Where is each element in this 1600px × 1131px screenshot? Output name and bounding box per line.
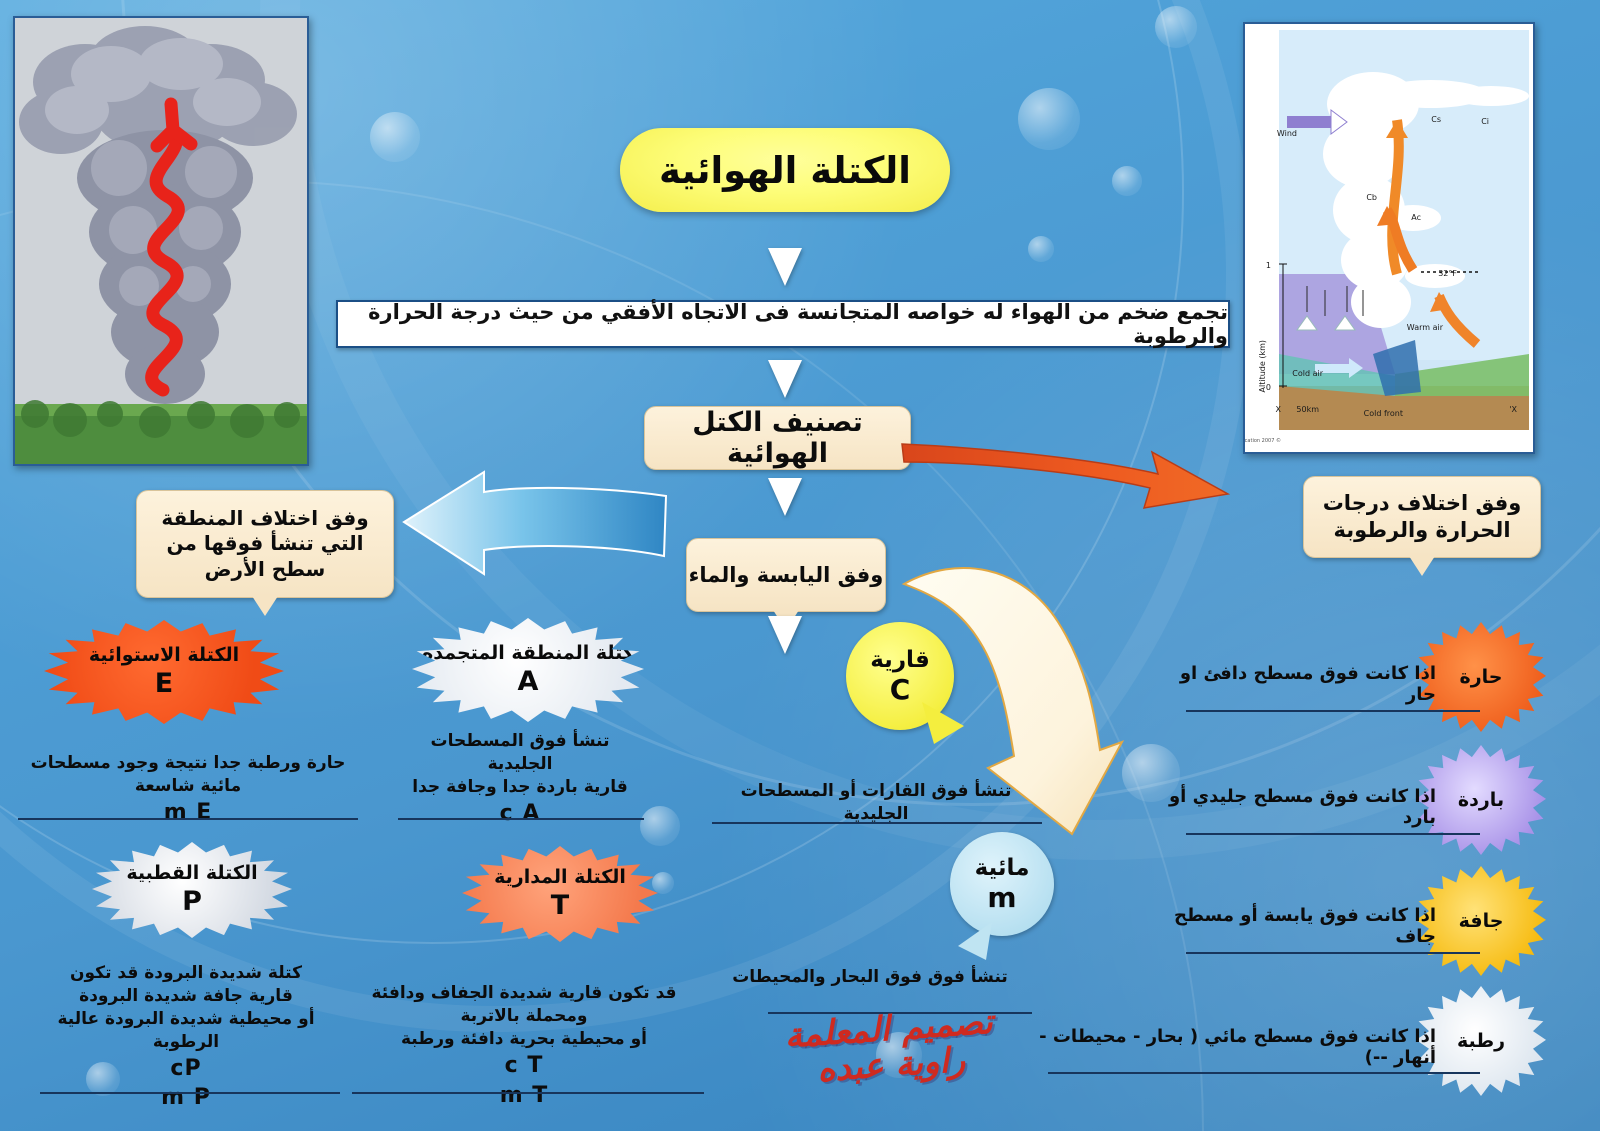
mass-burst-arctic-label: كتلة المنطقة المتجمدة (422, 644, 634, 663)
scale-label: 50km (1296, 405, 1319, 414)
callout-maritime-label: مائية (975, 855, 1030, 881)
cs-label: Cs (1431, 115, 1441, 124)
cold-front-label: Cold front (1364, 409, 1403, 418)
arrow-to-temp-humidity-branch (900, 432, 1230, 510)
mass-burst-arctic: كتلة المنطقة المتجمدة A (412, 618, 644, 722)
warm-air-label: Warm air (1407, 323, 1444, 332)
mass-note-arctic-line1: تنشأ فوق المسطحات الجليدية (398, 730, 642, 776)
temp-condition-dry-text: اذا كانت فوق يابسة أو مسطح جاف (1174, 905, 1436, 947)
x-left-label: X (1276, 405, 1282, 414)
mass-note-tropical-line1: قد تكون قارية شديدة الجفاف ودافئة ومحملة… (346, 982, 702, 1028)
branch-temp-humidity-tail (1409, 556, 1435, 576)
branch-land-water-text: وفق اليابسة والماء (689, 563, 884, 587)
callout-maritime-tail (952, 920, 998, 966)
temp-condition-humid-text: اذا كانت فوق مسطح مائي ( بحار - محيطات -… (1039, 1026, 1436, 1068)
wind-label: Wind (1277, 129, 1297, 138)
classification-node: تصنيف الكتل الهوائية (644, 406, 911, 470)
temp-condition-dry: اذا كانت فوق يابسة أو مسطح جاف (1168, 905, 1436, 947)
arrow-definition-to-classification (768, 360, 802, 398)
mass-note-polar-codes: cP (28, 1054, 344, 1084)
temp-condition-hot-text: اذا كانت فوق مسطح دافئ او حار (1180, 663, 1436, 705)
mass-note-tropical-codes: c T (346, 1051, 702, 1081)
branch-region-tail (252, 596, 278, 616)
cold-front-diagram-photo: Wind Cb Cs Ci Ac 32°F Warm air Cold air … (1243, 22, 1535, 454)
branch-land-water: وفق اليابسة والماء (686, 538, 886, 612)
ac-label: Ac (1411, 213, 1421, 222)
classification-node-text: تصنيف الكتل الهوائية (645, 407, 910, 469)
freeze-label: 32°F (1438, 269, 1457, 278)
mass-burst-equatorial-code: E (155, 669, 173, 699)
mass-note-polar-line1: كتلة شديدة البرودة قد تكون (28, 962, 344, 985)
background-bubble-1 (1155, 6, 1197, 48)
mass-note-polar-line2: قارية جافة شديدة البرودة (28, 985, 344, 1008)
mass-note-polar: كتلة شديدة البرودة قد تكون قارية جافة شد… (28, 962, 344, 1113)
diagram-credit: © 2007 Thomson Higher Education (1245, 437, 1281, 444)
page-title-text: الكتلة الهوائية (659, 149, 911, 192)
cold-front-diagram: Wind Cb Cs Ci Ac 32°F Warm air Cold air … (1245, 24, 1533, 452)
mass-rule-equatorial (18, 818, 358, 820)
mass-note-polar-codes2: m P (28, 1083, 344, 1113)
background-bubble-5 (1028, 236, 1054, 262)
temp-condition-hot: اذا كانت فوق مسطح دافئ او حار (1168, 663, 1436, 705)
mass-burst-equatorial: الكتلة الاستوائية E (44, 620, 284, 724)
temp-rule-humid (1048, 1072, 1480, 1074)
temp-rule-hot (1186, 710, 1480, 712)
temp-condition-cold: اذا كانت فوق مسطح جليدي أو بارد (1168, 786, 1436, 828)
mass-note-tropical-codes2: m T (346, 1081, 702, 1111)
temp-condition-cold-text: اذا كانت فوق مسطح جليدي أو بارد (1169, 786, 1436, 828)
callout-maritime-desc-text: تنشأ فوق فوق البحار والمحيطات (700, 966, 1040, 989)
branch-region: وفق اختلاف المنطقة التي تنشأ فوقها من سط… (136, 490, 394, 598)
callout-maritime-code: m (987, 881, 1016, 914)
temp-burst-hot-label: حارة (1460, 668, 1503, 687)
mass-burst-polar-code: P (182, 887, 202, 917)
mass-burst-tropical-label: الكتلة المدارية (494, 868, 626, 887)
arrow-continental-to-maritime (896, 560, 1126, 850)
mass-rule-arctic (398, 818, 644, 820)
mass-note-arctic-line2: قارية باردة جدا وجافة جدا (398, 776, 642, 799)
temp-burst-humid-label: رطبة (1457, 1032, 1505, 1051)
cold-air-label: Cold air (1292, 369, 1323, 378)
cb-label: Cb (1366, 193, 1377, 202)
temp-burst-dry-label: جافة (1459, 912, 1504, 931)
poster-canvas: Wind Cb Cs Ci Ac 32°F Warm air Cold air … (0, 0, 1600, 1131)
x-right-label: X' (1509, 405, 1517, 414)
mass-burst-polar: الكتلة القطبية P (92, 842, 292, 938)
mass-note-equatorial-line1: حارة ورطبة جدا نتيجة وجود مسطحات مائية ش… (16, 752, 360, 798)
background-bubble-7 (652, 872, 674, 894)
mass-note-tropical-line2: أو محيطية بحرية دافئة ورطبة (346, 1028, 702, 1051)
branch-temp-humidity-text: وفق اختلاف درجات الحرارة والرطوبة (1312, 490, 1532, 545)
definition-text: تجمع ضخم من الهواء له خواصه المتجانسة فى… (338, 300, 1228, 348)
arrow-land-water-down (768, 616, 802, 654)
storm-cloud-photo (13, 16, 309, 466)
temp-condition-humid: اذا كانت فوق مسطح مائي ( بحار - محيطات -… (1030, 1026, 1436, 1068)
temp-rule-cold (1186, 833, 1480, 835)
mass-note-equatorial: حارة ورطبة جدا نتيجة وجود مسطحات مائية ش… (16, 752, 360, 828)
mass-rule-polar (40, 1092, 340, 1094)
altitude-one: 1 (1266, 261, 1271, 270)
temp-burst-cold-label: باردة (1458, 791, 1504, 810)
storm-cloud-illustration (15, 18, 307, 464)
callout-maritime-desc: تنشأ فوق فوق البحار والمحيطات (700, 966, 1040, 989)
designer-signature: تصميم المعلمة راوية عبده (733, 1001, 1047, 1094)
mass-burst-arctic-code: A (518, 667, 539, 697)
temp-rule-dry (1186, 952, 1480, 954)
mass-burst-tropical: الكتلة المدارية T (462, 846, 658, 942)
background-bubble-6 (640, 806, 680, 846)
mass-burst-equatorial-label: الكتلة الاستوائية (89, 646, 239, 665)
mass-note-polar-line3: أو محيطية شديدة البرودة عالية الرطوبة (28, 1008, 344, 1054)
mass-note-tropical: قد تكون قارية شديدة الجفاف ودافئة ومحملة… (346, 982, 702, 1110)
branch-temp-humidity: وفق اختلاف درجات الحرارة والرطوبة (1303, 476, 1541, 558)
arrow-classification-to-land-water (768, 478, 802, 516)
altitude-axis-label: Altitude (km) (1258, 340, 1267, 392)
mass-burst-tropical-code: T (551, 891, 569, 921)
arrow-title-to-definition (768, 248, 802, 286)
branch-region-text: وفق اختلاف المنطقة التي تنشأ فوقها من سط… (147, 506, 383, 583)
mass-burst-polar-label: الكتلة القطبية (126, 864, 257, 883)
background-bubble-4 (1112, 166, 1142, 196)
mass-note-arctic-codes: c A (398, 799, 642, 829)
mass-rule-tropical (352, 1092, 704, 1094)
arrow-to-region-branch (398, 470, 668, 580)
background-bubble-2 (1018, 88, 1080, 150)
mass-note-arctic: تنشأ فوق المسطحات الجليدية قارية باردة ج… (398, 730, 642, 829)
page-title: الكتلة الهوائية (620, 128, 950, 212)
ci-label: Ci (1481, 117, 1489, 126)
definition-box: تجمع ضخم من الهواء له خواصه المتجانسة فى… (336, 300, 1230, 348)
mass-note-equatorial-codes: m E (16, 798, 360, 828)
background-bubble-3 (370, 112, 420, 162)
